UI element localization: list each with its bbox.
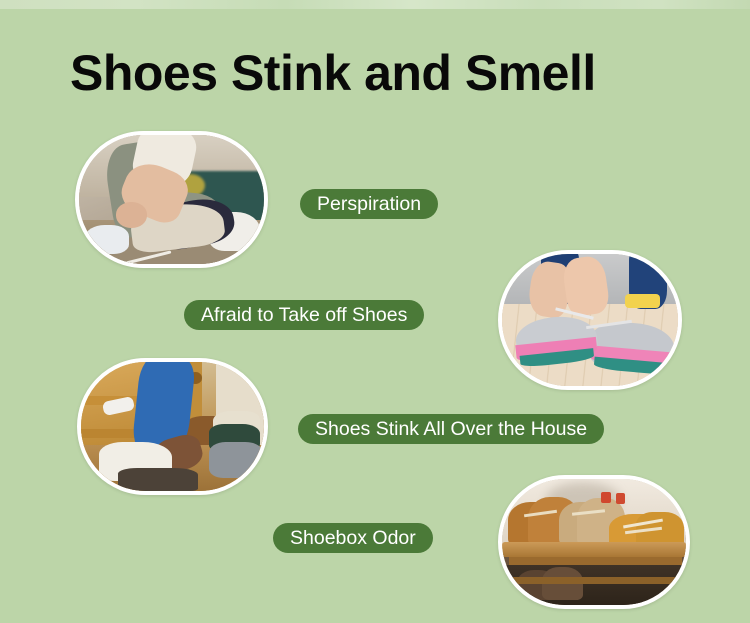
photo-hallway-shoe-clutter [77, 358, 268, 495]
photo-shoe-rack-suede [498, 475, 690, 609]
label-perspiration: Perspiration [300, 189, 438, 219]
page-title: Shoes Stink and Smell [70, 44, 690, 102]
photo-removing-sneaker [75, 131, 268, 268]
infographic-canvas: Shoes Stink and Smell [0, 0, 750, 623]
label-afraid-to-take-off-shoes: Afraid to Take off Shoes [184, 300, 424, 330]
label-shoebox-odor: Shoebox Odor [273, 523, 433, 553]
top-gradient-strip [0, 0, 750, 9]
photo-tying-sneakers [498, 250, 682, 390]
label-shoes-stink-all-over-the-house: Shoes Stink All Over the House [298, 414, 604, 444]
